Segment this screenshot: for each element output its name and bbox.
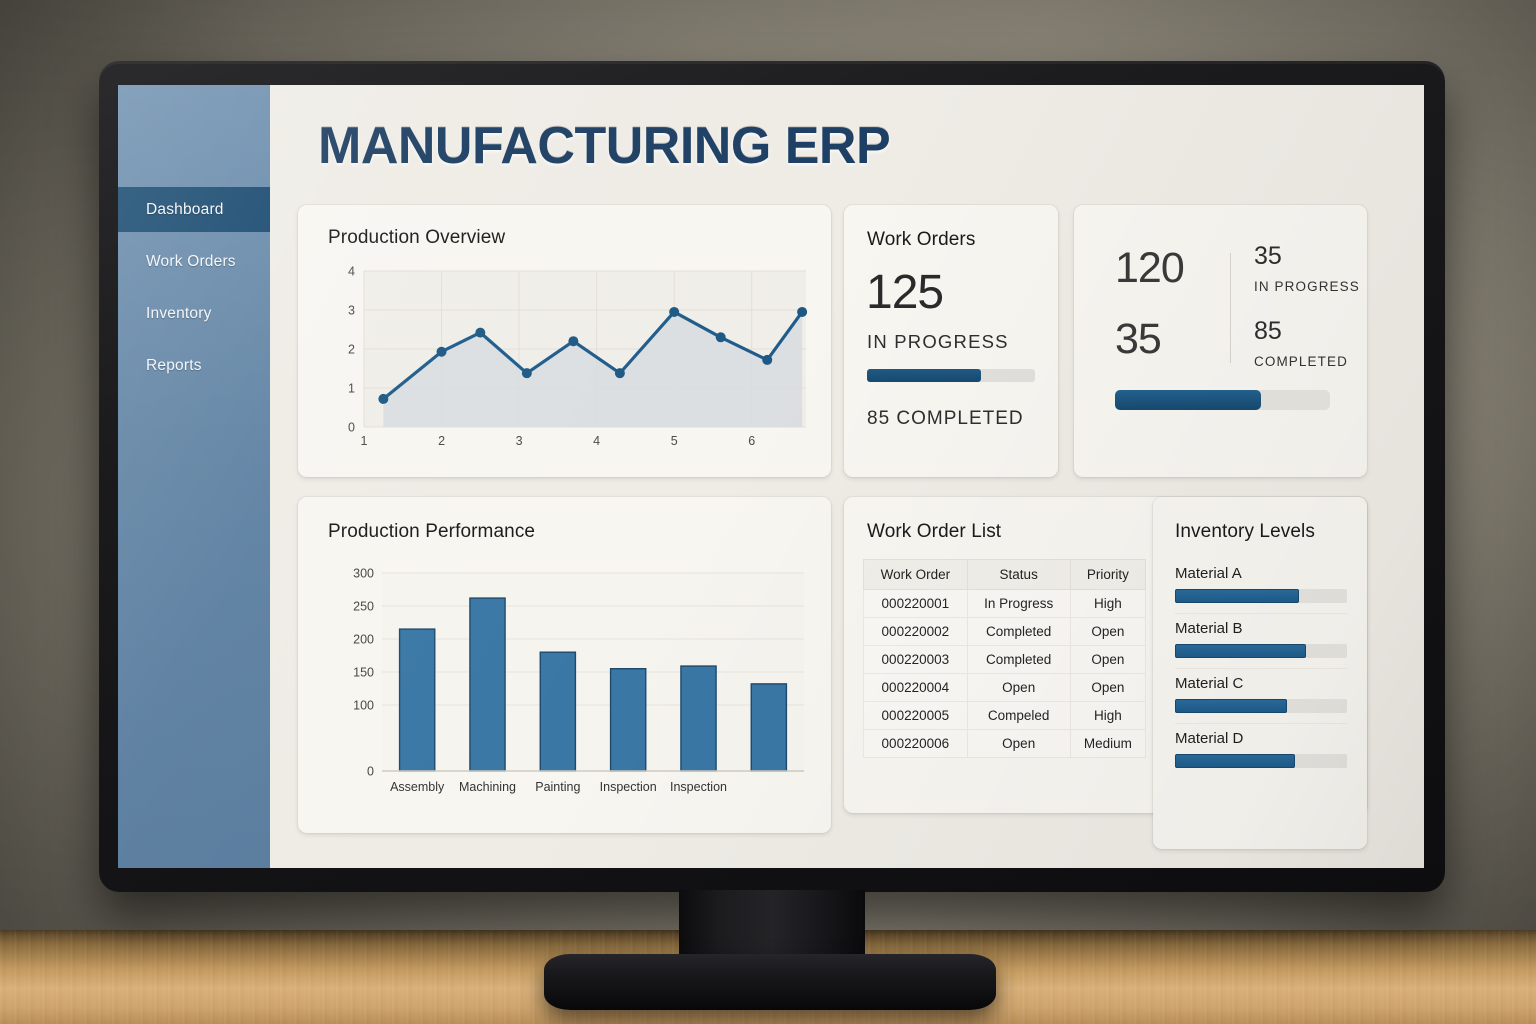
production-performance-chart: 0100150200250300AssemblyMachiningPaintin…	[342, 565, 810, 805]
svg-text:150: 150	[353, 666, 374, 680]
cell-priority: High	[1070, 702, 1145, 730]
stats-divider	[1230, 253, 1231, 363]
table-header-row: Work OrderStatusPriority	[864, 560, 1146, 590]
cell-status: Completed	[967, 618, 1070, 646]
cell-work-order: 000220005	[864, 702, 968, 730]
svg-text:Inspection: Inspection	[670, 780, 727, 794]
main-content: MANUFACTURING ERP Production Overview 01…	[270, 85, 1424, 868]
work-orders-kpi-card: Work Orders 125 IN PROGRESS 85 COMPLETED	[844, 205, 1058, 477]
table-body: 000220001In ProgressHigh000220002Complet…	[864, 590, 1146, 758]
inventory-progress-fill	[1175, 699, 1287, 713]
svg-text:1: 1	[361, 434, 368, 448]
production-performance-card: Production Performance 0100150200250300A…	[298, 497, 831, 833]
svg-text:5: 5	[671, 434, 678, 448]
monitor-screen: Dashboard Work Orders Inventory Reports …	[118, 85, 1424, 868]
table-column-header: Status	[967, 560, 1070, 590]
stat-secondary-value: 35	[1115, 315, 1161, 364]
svg-text:4: 4	[593, 434, 600, 448]
production-overview-card: Production Overview 01234123456	[298, 205, 831, 477]
inventory-progress-fill	[1175, 644, 1306, 658]
table-row[interactable]: 000220001In ProgressHigh	[864, 590, 1146, 618]
svg-text:0: 0	[348, 421, 355, 435]
stat-in-progress-value: 35	[1254, 242, 1282, 271]
cell-status: Compeled	[967, 702, 1070, 730]
table-row[interactable]: 000220002CompletedOpen	[864, 618, 1146, 646]
cell-priority: High	[1070, 590, 1145, 618]
table-header: Work OrderStatusPriority	[864, 560, 1146, 590]
svg-text:3: 3	[348, 304, 355, 318]
svg-text:Assembly: Assembly	[390, 780, 445, 794]
card-title: Production Overview	[328, 227, 505, 249]
cell-status: Open	[967, 674, 1070, 702]
table-row[interactable]: 000220006OpenMedium	[864, 730, 1146, 758]
sidebar-item-work-orders[interactable]: Work Orders	[118, 239, 270, 284]
svg-text:300: 300	[353, 567, 374, 581]
inventory-levels-card: Inventory Levels Material AMaterial BMat…	[1153, 497, 1367, 849]
page-title: MANUFACTURING ERP	[318, 116, 890, 176]
cell-work-order: 000220003	[864, 646, 968, 674]
sidebar-item-inventory[interactable]: Inventory	[118, 291, 270, 336]
inventory-item: Material B	[1175, 614, 1347, 669]
table-row[interactable]: 000220004OpenOpen	[864, 674, 1146, 702]
cell-priority: Open	[1070, 646, 1145, 674]
svg-text:Painting: Painting	[535, 780, 580, 794]
svg-text:200: 200	[353, 633, 374, 647]
inventory-item: Material C	[1175, 669, 1347, 724]
sidebar-item-label: Work Orders	[146, 253, 236, 271]
cell-status: Completed	[967, 646, 1070, 674]
inventory-progress-track	[1175, 754, 1347, 768]
svg-text:100: 100	[353, 699, 374, 713]
inventory-item-label: Material B	[1175, 620, 1347, 637]
svg-text:2: 2	[438, 434, 445, 448]
table-column-header: Priority	[1070, 560, 1145, 590]
sidebar-item-label: Dashboard	[146, 201, 224, 219]
svg-text:2: 2	[348, 343, 355, 357]
nav-spacer	[118, 284, 270, 291]
work-orders-status-label: IN PROGRESS	[867, 331, 1009, 353]
inventory-list: Material AMaterial BMaterial CMaterial D	[1175, 559, 1347, 778]
cell-work-order: 000220006	[864, 730, 968, 758]
inventory-item-label: Material C	[1175, 675, 1347, 692]
inventory-item-label: Material D	[1175, 730, 1347, 747]
svg-text:Machining: Machining	[459, 780, 516, 794]
cell-priority: Medium	[1070, 730, 1145, 758]
nav-spacer	[118, 336, 270, 343]
work-orders-progress-track	[867, 369, 1035, 382]
sidebar-item-dashboard[interactable]: Dashboard	[118, 187, 270, 232]
svg-text:0: 0	[367, 765, 374, 779]
inventory-progress-track	[1175, 699, 1347, 713]
production-overview-chart: 01234123456	[334, 265, 810, 455]
inventory-progress-track	[1175, 589, 1347, 603]
cell-work-order: 000220002	[864, 618, 968, 646]
cell-status: Open	[967, 730, 1070, 758]
cell-status: In Progress	[967, 590, 1070, 618]
svg-text:250: 250	[353, 600, 374, 614]
cell-work-order: 000220001	[864, 590, 968, 618]
stats-progress-fill	[1115, 390, 1261, 410]
svg-text:3: 3	[516, 434, 523, 448]
work-orders-completed-label: 85 COMPLETED	[867, 408, 1024, 430]
svg-text:1: 1	[348, 382, 355, 396]
card-title: Work Order List	[867, 521, 1001, 543]
inventory-progress-fill	[1175, 589, 1299, 603]
svg-text:6: 6	[748, 434, 755, 448]
sidebar: Dashboard Work Orders Inventory Reports	[118, 85, 270, 868]
sidebar-item-label: Reports	[146, 357, 202, 375]
stat-total-value: 120	[1115, 244, 1184, 293]
svg-text:Inspection: Inspection	[600, 780, 657, 794]
work-order-table: Work OrderStatusPriority 000220001In Pro…	[863, 559, 1146, 758]
table-row[interactable]: 000220003CompletedOpen	[864, 646, 1146, 674]
sidebar-nav: Dashboard Work Orders Inventory Reports	[118, 187, 270, 388]
cell-priority: Open	[1070, 674, 1145, 702]
inventory-progress-track	[1175, 644, 1347, 658]
work-orders-stats-card: 120 35 35 IN PROGRESS 85 COMPLETED	[1074, 205, 1367, 477]
monitor-stand-base	[544, 954, 996, 1010]
work-orders-count: 125	[866, 265, 943, 320]
stats-progress-track	[1115, 390, 1330, 410]
inventory-progress-fill	[1175, 754, 1295, 768]
inventory-item: Material D	[1175, 724, 1347, 778]
table-row[interactable]: 000220005CompeledHigh	[864, 702, 1146, 730]
card-title: Work Orders	[867, 229, 975, 251]
sidebar-item-label: Inventory	[146, 305, 212, 323]
stat-completed-value: 85	[1254, 317, 1282, 346]
cell-work-order: 000220004	[864, 674, 968, 702]
stat-in-progress-label: IN PROGRESS	[1254, 279, 1360, 294]
work-orders-progress-fill	[867, 369, 981, 382]
sidebar-item-reports[interactable]: Reports	[118, 343, 270, 388]
table-column-header: Work Order	[864, 560, 968, 590]
stat-completed-label: COMPLETED	[1254, 354, 1348, 369]
svg-text:4: 4	[348, 265, 355, 279]
nav-spacer	[118, 232, 270, 239]
inventory-item-label: Material A	[1175, 565, 1347, 582]
cell-priority: Open	[1070, 618, 1145, 646]
card-title: Inventory Levels	[1175, 521, 1315, 543]
card-title: Production Performance	[328, 521, 535, 543]
inventory-item: Material A	[1175, 559, 1347, 614]
